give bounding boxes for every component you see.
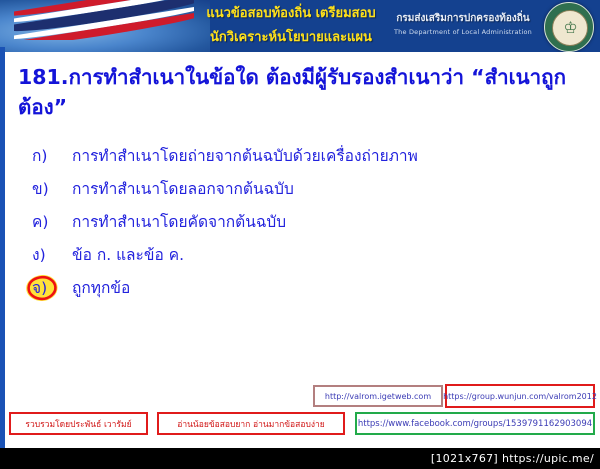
- question-text: 181.การทำสำเนาในข้อใด ต้องมีผู้รับรองสำเ…: [18, 62, 584, 122]
- choice-label: การทำสำเนาโดยถ่ายจากต้นฉบับด้วยเครื่องถ่…: [72, 140, 418, 173]
- link-box-facebook[interactable]: https://www.facebook.com/groups/15397911…: [355, 412, 595, 435]
- link-box-igetweb[interactable]: http://valrom.igetweb.com: [313, 385, 443, 407]
- choice-label: การทำสำเนาโดยลอกจากต้นฉบับ: [72, 173, 294, 206]
- choice-label: ถูกทุกข้อ: [72, 272, 130, 305]
- choice-label: การทำสำเนาโดยคัดจากต้นฉบับ: [72, 206, 286, 239]
- watermark-dimensions: [1021x767]: [431, 452, 498, 465]
- link-text: http://valrom.igetweb.com: [325, 392, 431, 401]
- motto-box: อ่านน้อยข้อสอบยาก อ่านมากข้อสอบง่าย: [157, 412, 345, 435]
- link-text: https://group.wunjun.com/valrom2012: [443, 392, 597, 401]
- choice-key: ข): [24, 173, 72, 206]
- header-banner: แนวข้อสอบท้องถิ่น เตรียมสอบ นักวิเคราะห์…: [0, 0, 600, 52]
- department-name-group: กรมส่งเสริมการปกครองท้องถิ่น The Departm…: [393, 11, 533, 36]
- choice-list: ก) การทำสำเนาโดยถ่ายจากต้นฉบับด้วยเครื่อ…: [24, 140, 584, 305]
- author-credit-text: รวบรวมโดยประพันธ์ เวารัมย์: [25, 417, 131, 431]
- department-name-english: The Department of Local Administration: [393, 28, 533, 36]
- choice-label: ข้อ ก. และข้อ ค.: [72, 239, 184, 272]
- seal-inner-disc: ♔: [552, 10, 588, 46]
- thai-flag-icon: [14, 0, 194, 40]
- choice-item-ka[interactable]: ก) การทำสำเนาโดยถ่ายจากต้นฉบับด้วยเครื่อ…: [24, 140, 584, 173]
- seal-horse-glyph: ♔: [562, 19, 579, 37]
- author-credit-box: รวบรวมโดยประพันธ์ เวารัมย์: [9, 412, 148, 435]
- choice-key: ค): [24, 206, 72, 239]
- motto-text: อ่านน้อยข้อสอบยาก อ่านมากข้อสอบง่าย: [177, 417, 325, 431]
- choice-item-cho[interactable]: จ) ถูกทุกข้อ: [24, 272, 584, 305]
- department-seal-icon: ♔: [544, 2, 594, 52]
- watermark-site: https://upic.me/: [502, 452, 594, 465]
- header-title-line1: แนวข้อสอบท้องถิ่น เตรียมสอบ: [178, 2, 404, 26]
- link-box-wunjun[interactable]: https://group.wunjun.com/valrom2012: [445, 384, 595, 408]
- header-title-line2: นักวิเคราะห์นโยบายและแผน: [178, 26, 404, 50]
- choice-key: ก): [24, 140, 72, 173]
- choice-key: ง): [24, 239, 72, 272]
- department-name-thai: กรมส่งเสริมการปกครองท้องถิ่น: [393, 11, 533, 26]
- choice-key: จ): [24, 272, 72, 305]
- header-title-group: แนวข้อสอบท้องถิ่น เตรียมสอบ นักวิเคราะห์…: [178, 2, 404, 50]
- choice-item-kho[interactable]: ข) การทำสำเนาโดยลอกจากต้นฉบับ: [24, 173, 584, 206]
- left-accent-rule: [0, 47, 5, 448]
- choice-item-ngo[interactable]: ง) ข้อ ก. และข้อ ค.: [24, 239, 584, 272]
- watermark-bar: [1021x767] https://upic.me/: [0, 448, 600, 469]
- choice-item-kho-khwai[interactable]: ค) การทำสำเนาโดยคัดจากต้นฉบับ: [24, 206, 584, 239]
- link-text: https://www.facebook.com/groups/15397911…: [358, 419, 592, 429]
- slide-canvas: แนวข้อสอบท้องถิ่น เตรียมสอบ นักวิเคราะห์…: [0, 0, 600, 448]
